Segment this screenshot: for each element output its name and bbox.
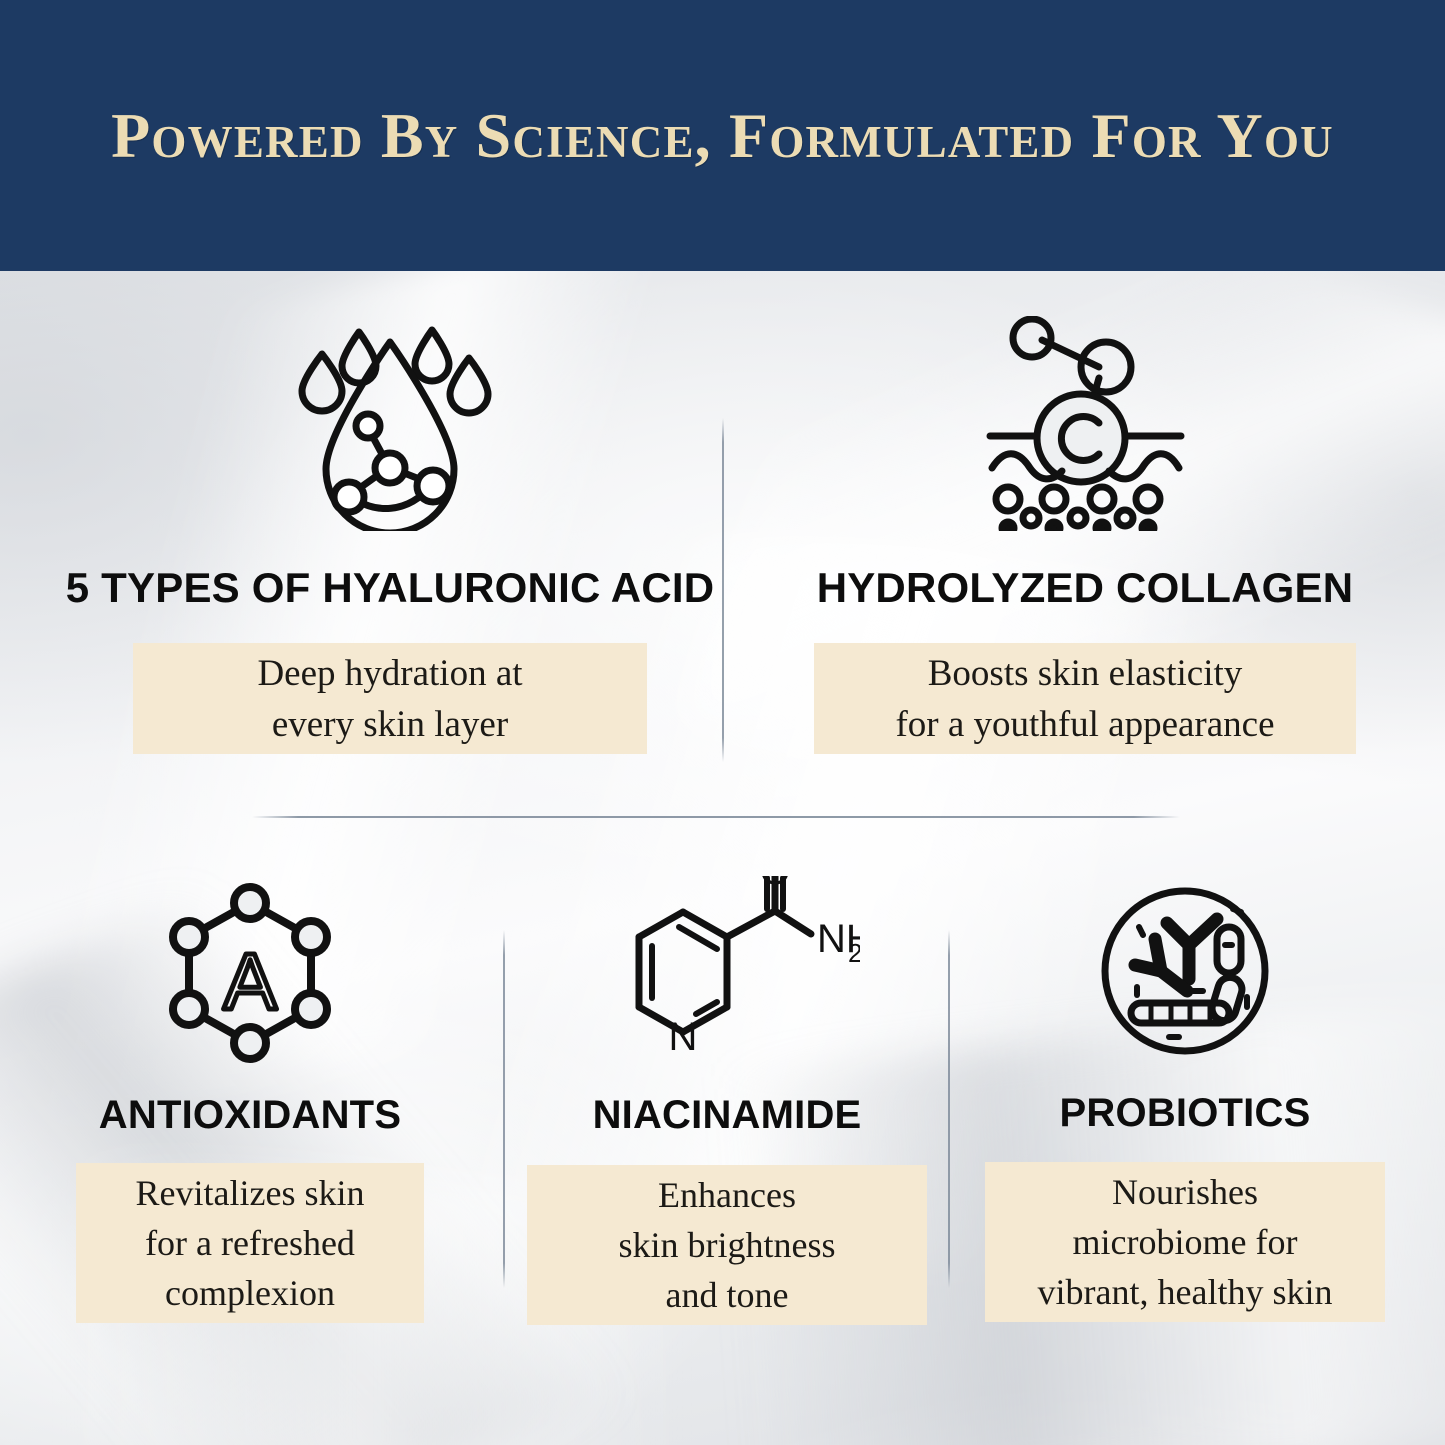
water-drop-molecule-icon — [280, 316, 500, 531]
niacinamide-structure-icon: N O NH 2 — [595, 876, 860, 1066]
feature-title-antioxidants: ANTIOXIDANTS — [99, 1093, 401, 1138]
probiotics-bacteria-circle-icon — [1095, 879, 1275, 1064]
nitrogen-label: N — [668, 1015, 697, 1059]
oxygen-label: O — [759, 876, 790, 893]
desc-line: vibrant, healthy skin — [985, 1267, 1385, 1317]
infographic-page: Powered By Science, Formulated For You — [0, 0, 1445, 1445]
feature-desc-hydrolyzed-collagen: Boosts skin elasticity for a youthful ap… — [814, 643, 1356, 754]
desc-line: for a refreshed — [76, 1218, 424, 1268]
divider-vertical-top — [722, 418, 724, 762]
feature-card-hydrolyzed-collagen: HYDROLYZED COLLAGEN Boosts skin elastici… — [760, 316, 1410, 754]
desc-line: Enhances — [527, 1170, 927, 1220]
desc-line: and tone — [527, 1270, 927, 1320]
header-banner: Powered By Science, Formulated For You — [0, 0, 1445, 271]
desc-line: Boosts skin elasticity — [814, 648, 1356, 699]
feature-title-niacinamide: NIACINAMIDE — [593, 1093, 862, 1138]
desc-line: every skin layer — [133, 699, 647, 750]
divider-horizontal — [252, 816, 1180, 818]
amine-subscript-label: 2 — [848, 938, 860, 968]
hexagon-a-molecule-icon: A — [163, 881, 338, 1066]
feature-card-niacinamide: N O NH 2 NIACINAMIDE En — [512, 876, 942, 1325]
feature-title-probiotics: PROBIOTICS — [1060, 1091, 1311, 1136]
feature-desc-hyaluronic-acid: Deep hydration at every skin layer — [133, 643, 647, 754]
desc-line: microbiome for — [985, 1217, 1385, 1267]
feature-desc-niacinamide: Enhances skin brightness and tone — [527, 1165, 927, 1325]
collagen-skin-layer-icon — [978, 316, 1193, 531]
feature-card-hyaluronic-acid: 5 TYPES OF HYALURONIC ACID Deep hydratio… — [60, 316, 720, 754]
divider-vertical-bottom-left — [503, 930, 505, 1288]
desc-line: skin brightness — [527, 1220, 927, 1270]
desc-line: Nourishes — [985, 1167, 1385, 1217]
desc-line: Revitalizes skin — [76, 1168, 424, 1218]
feature-desc-antioxidants: Revitalizes skin for a refreshed complex… — [76, 1163, 424, 1323]
divider-vertical-bottom-right — [948, 930, 950, 1288]
feature-card-antioxidants: A ANTIOXIDANTS Revitalizes skin for a re… — [35, 881, 465, 1323]
feature-title-hydrolyzed-collagen: HYDROLYZED COLLAGEN — [817, 564, 1354, 612]
page-title: Powered By Science, Formulated For You — [111, 99, 1334, 173]
antioxidant-letter: A — [223, 937, 277, 1026]
desc-line: Deep hydration at — [133, 648, 647, 699]
desc-line: complexion — [76, 1268, 424, 1318]
desc-line: for a youthful appearance — [814, 699, 1356, 750]
feature-desc-probiotics: Nourishes microbiome for vibrant, health… — [985, 1162, 1385, 1322]
feature-title-hyaluronic-acid: 5 TYPES OF HYALURONIC ACID — [66, 564, 715, 612]
feature-card-probiotics: PROBIOTICS Nourishes microbiome for vibr… — [980, 879, 1390, 1322]
